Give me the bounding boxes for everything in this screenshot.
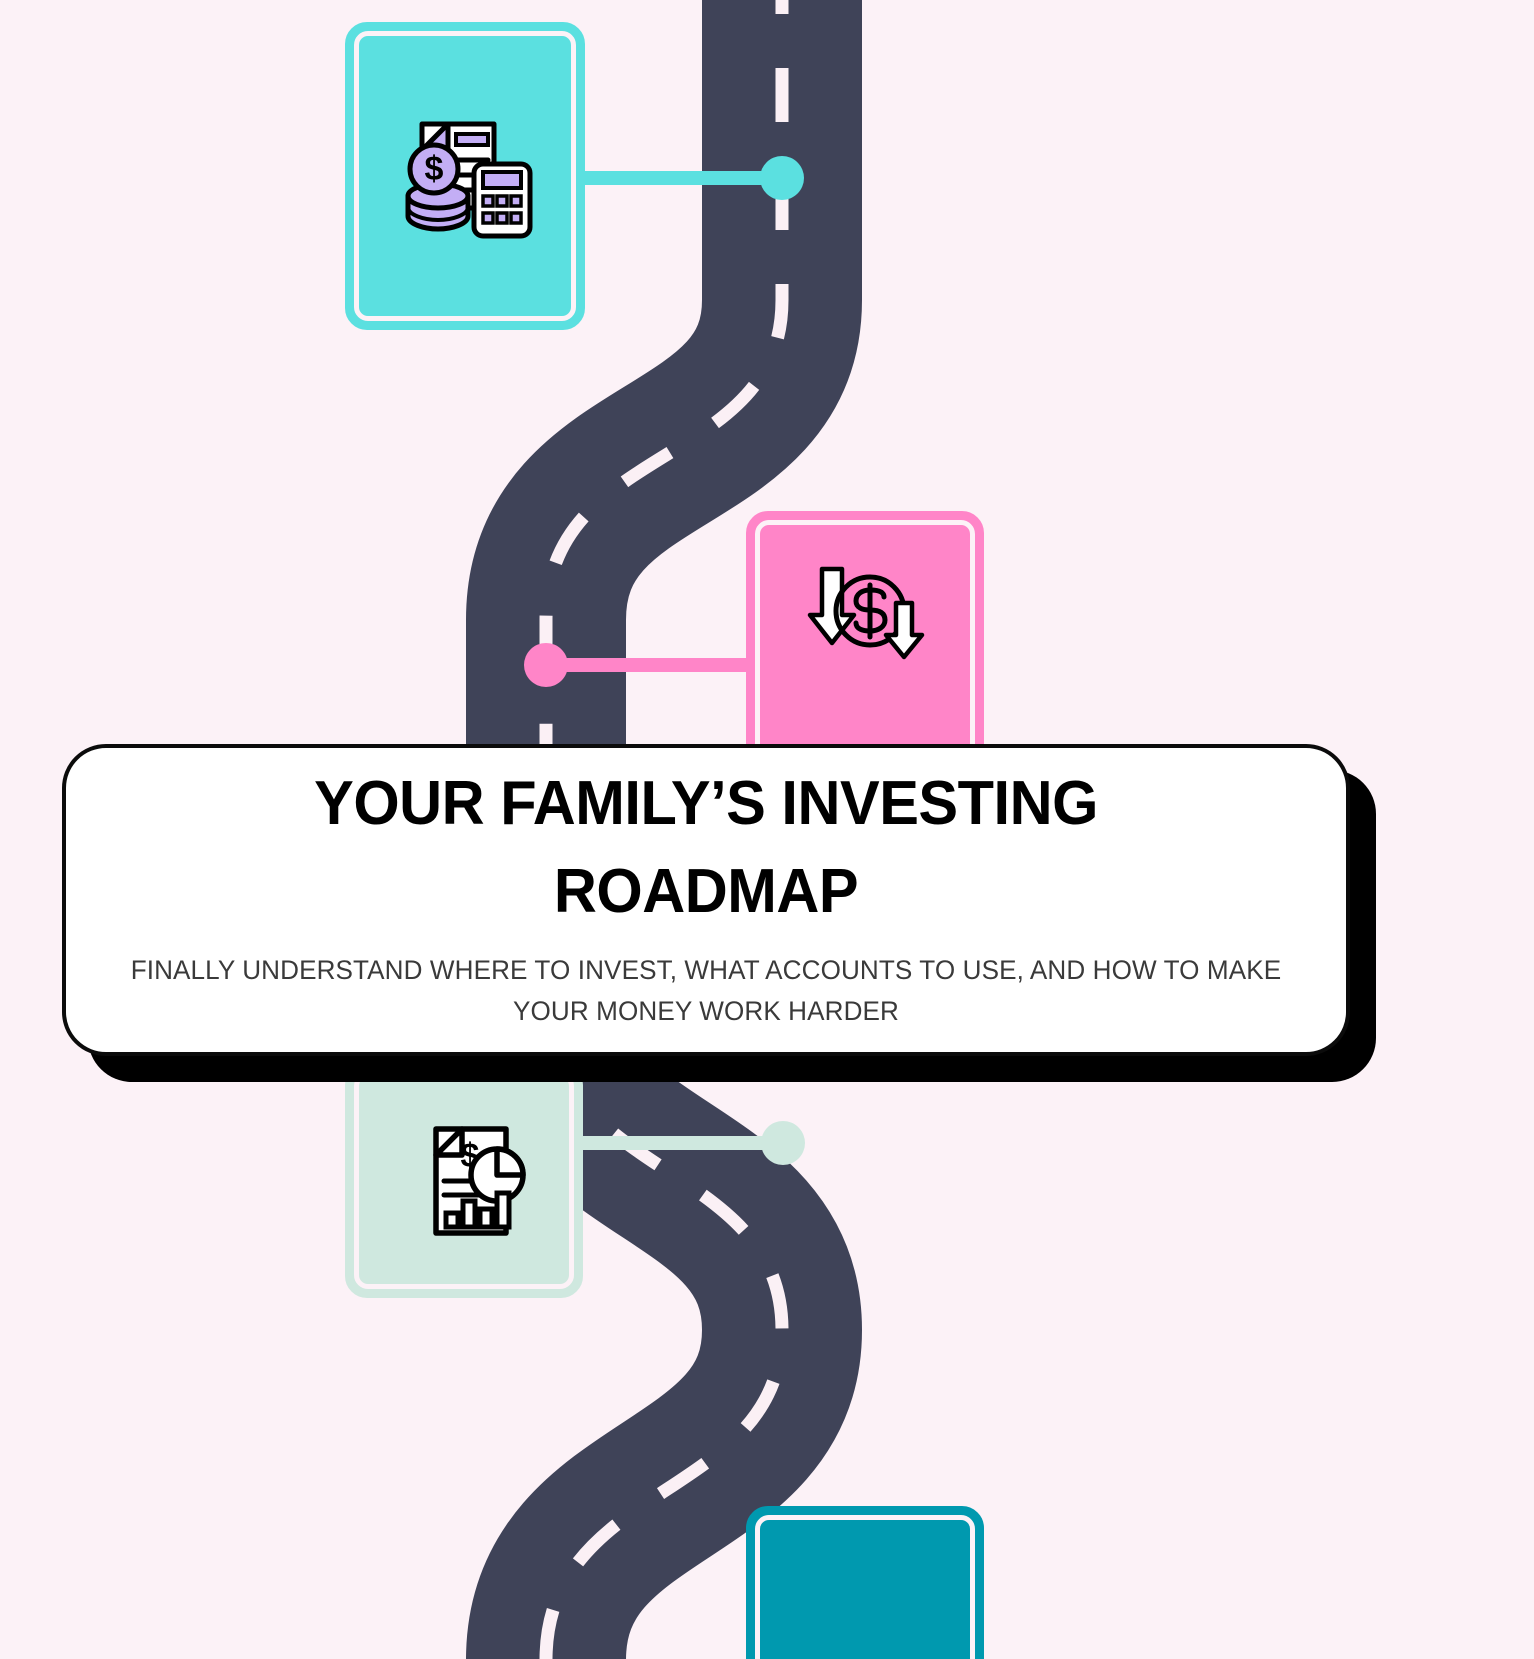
milestone-card-report[interactable]: $ [345, 1063, 583, 1298]
milestone-card-budget-inner: $ [354, 31, 576, 321]
connector-node-debt [524, 643, 568, 687]
financial-report-icon: $ [402, 1119, 526, 1243]
milestone-card-budget[interactable]: $ [345, 22, 585, 330]
page-title: YOUR FAMILY’S INVESTING ROADMAP [226, 760, 1186, 936]
connector-line-debt [546, 658, 761, 672]
milestone-card-invest-inner [755, 1515, 975, 1659]
connector-node-budget [760, 156, 804, 200]
connector-line-budget [568, 171, 784, 185]
svg-text:$: $ [425, 150, 444, 188]
hero-banner: YOUR FAMILY’S INVESTING ROADMAP FINALLY … [62, 744, 1350, 1056]
infographic-canvas: $ [0, 0, 1534, 1659]
connector-node-report [761, 1121, 805, 1165]
budget-calculator-icon: $ [390, 106, 540, 246]
page-subtitle: FINALLY UNDERSTAND WHERE TO INVEST, WHAT… [115, 950, 1297, 1032]
debt-reduction-icon [800, 563, 930, 663]
connector-line-report [568, 1136, 784, 1150]
milestone-card-report-inner: $ [354, 1072, 574, 1289]
milestone-card-invest[interactable] [746, 1506, 984, 1659]
